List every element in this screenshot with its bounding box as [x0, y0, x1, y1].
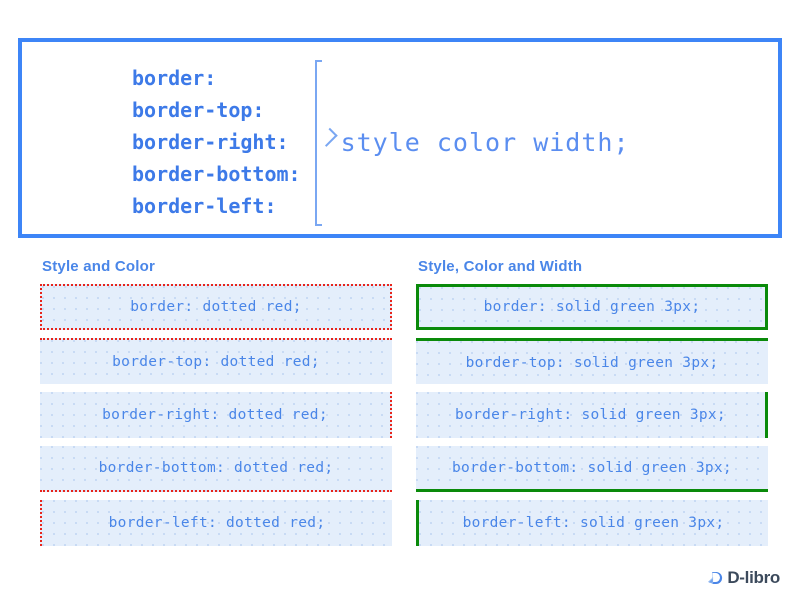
demo-code: border-left: dotted red; [109, 515, 326, 531]
column-style-and-color: Style and Color border: dotted red; bord… [40, 258, 392, 554]
demo-box-border-bottom-green: border-bottom: solid green 3px; [416, 446, 768, 492]
demo-code: border-right: dotted red; [102, 407, 328, 423]
demo-code: border-top: solid green 3px; [466, 355, 719, 371]
property-border-right: border-right: [132, 126, 301, 158]
demo-box-border-top-red: border-top: dotted red; [40, 338, 392, 384]
demo-code: border-bottom: solid green 3px; [452, 460, 732, 476]
demo-box-border-right-green: border-right: solid green 3px; [416, 392, 768, 438]
column-style-color-and-width: Style, Color and Width border: solid gre… [416, 258, 768, 554]
demo-box-border-top-green: border-top: solid green 3px; [416, 338, 768, 384]
brand-logo: D-libro [707, 568, 780, 588]
property-border: border: [132, 62, 301, 94]
demo-code: border: solid green 3px; [484, 299, 701, 315]
brace-cap-top [315, 60, 322, 62]
demo-code: border-bottom: dotted red; [99, 460, 334, 476]
demo-code: border-top: dotted red; [112, 354, 320, 370]
column-title-style-and-color: Style and Color [42, 258, 392, 275]
column-title-style-color-and-width: Style, Color and Width [418, 258, 768, 275]
demo-box-border-bottom-red: border-bottom: dotted red; [40, 446, 392, 492]
logo-wordmark: D-libro [727, 568, 780, 588]
demo-box-border-left-red: border-left: dotted red; [40, 500, 392, 546]
demo-code: border: dotted red; [130, 299, 302, 315]
brace-stem [315, 60, 317, 224]
demo-code: border-left: solid green 3px; [463, 515, 725, 531]
syntax-panel: border: border-top: border-right: border… [18, 38, 782, 238]
property-border-bottom: border-bottom: [132, 158, 301, 190]
demo-box-border-right-red: border-right: dotted red; [40, 392, 392, 438]
curly-brace-icon [307, 58, 333, 226]
demo-box-border-all-green: border: solid green 3px; [416, 284, 768, 330]
syntax-value-expression: style color width; [341, 128, 630, 157]
property-border-left: border-left: [132, 190, 301, 222]
demo-box-border-left-green: border-left: solid green 3px; [416, 500, 768, 546]
border-property-list: border: border-top: border-right: border… [132, 62, 301, 222]
syntax-panel-content: border: border-top: border-right: border… [132, 58, 630, 226]
demo-code: border-right: solid green 3px; [455, 407, 726, 423]
d-libro-logo-icon [707, 569, 726, 588]
brace-cap-bottom [315, 224, 322, 226]
property-border-top: border-top: [132, 94, 301, 126]
demo-box-border-all-red: border: dotted red; [40, 284, 392, 330]
brace-point [318, 128, 337, 147]
examples-columns: Style and Color border: dotted red; bord… [40, 258, 768, 554]
